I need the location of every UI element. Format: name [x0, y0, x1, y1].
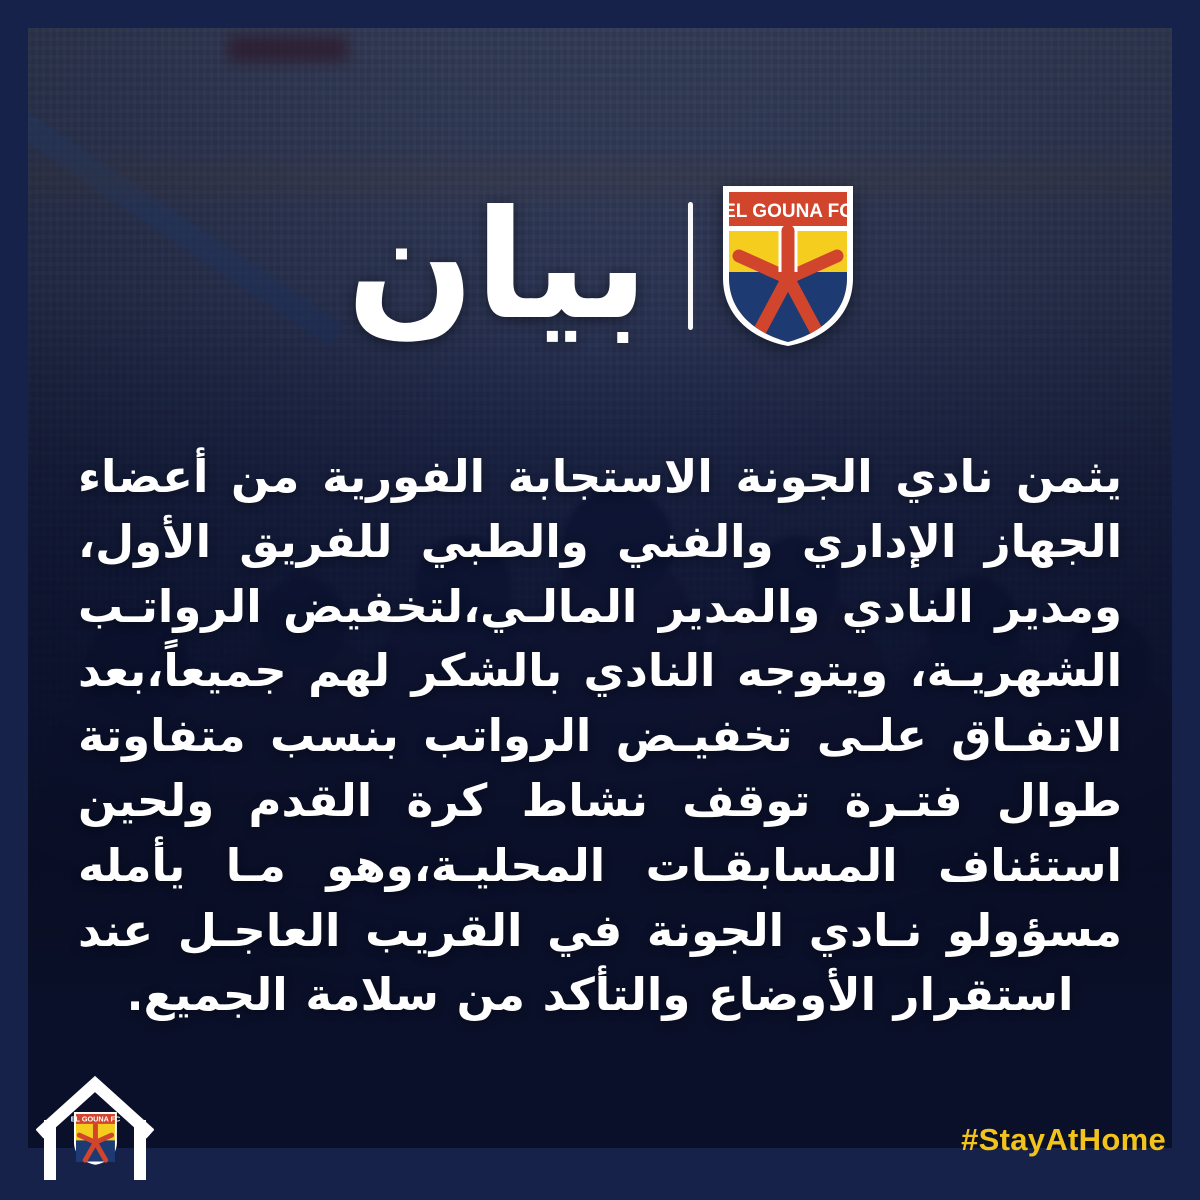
poster-header: بيان — [0, 186, 1200, 346]
statement-body: يثمن نادي الجونة الاستجابة الفورية من أع… — [78, 445, 1122, 1028]
statement-poster: بيان — [0, 0, 1200, 1200]
crest-label: EL GOUNA FC — [724, 201, 854, 222]
hashtag-stay-at-home: #StayAtHome — [961, 1122, 1166, 1158]
page-title: بيان — [347, 191, 683, 341]
club-crest-icon: EL GOUNA FC — [723, 186, 853, 346]
home-badge-crest-label: EL GOUNA FC — [71, 1115, 121, 1124]
vertical-divider — [688, 202, 693, 330]
stay-at-home-icon: EL GOUNA FC — [36, 1070, 154, 1182]
